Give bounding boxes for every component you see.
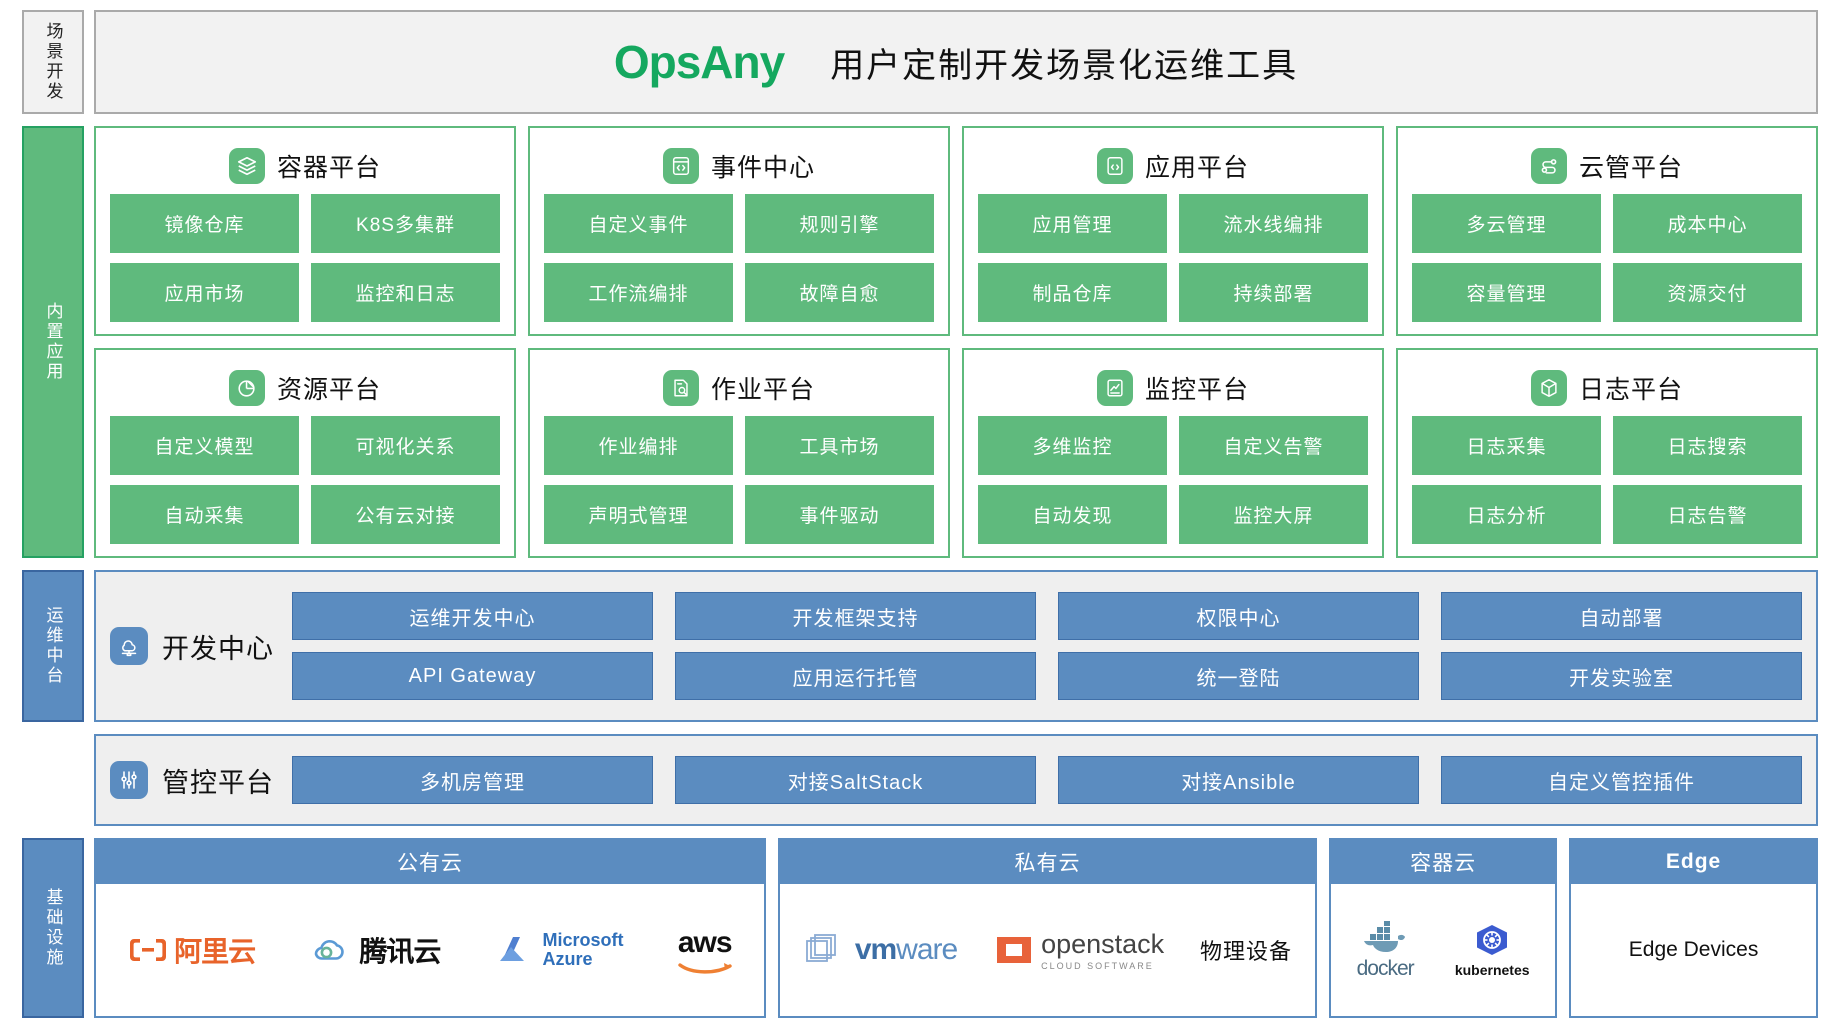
dev-center-chips: 运维开发中心 开发框架支持 权限中心 自动部署 API Gateway 应用运行…: [292, 592, 1802, 700]
infrastructure-band: 基础设施 公有云 阿里云: [22, 838, 1818, 1018]
chip[interactable]: 开发实验室: [1441, 652, 1802, 700]
card-title: 监控平台: [1145, 370, 1249, 406]
openstack-mark-icon: [993, 932, 1035, 968]
docker-logo: docker: [1357, 920, 1414, 981]
chip[interactable]: 应用管理: [978, 194, 1167, 253]
infra-column-body: Edge Devices: [1571, 884, 1816, 1016]
aws-logo: aws: [678, 926, 732, 975]
vmware-label: vmware: [855, 933, 957, 967]
card-title: 作业平台: [711, 370, 815, 406]
card-chips: 多维监控 自定义告警 自动发现 监控大屏: [978, 416, 1368, 544]
dev-center-box: 开发中心 运维开发中心 开发框架支持 权限中心 自动部署 API Gateway…: [94, 570, 1818, 722]
app-code-icon: [1097, 148, 1133, 184]
sidebar-label-scene-dev: 场景开发: [22, 10, 84, 114]
card-chips: 自定义模型 可视化关系 自动采集 公有云对接: [110, 416, 500, 544]
card-monitoring-platform[interactable]: 监控平台 多维监控 自定义告警 自动发现 监控大屏: [962, 348, 1384, 558]
chip[interactable]: 容量管理: [1412, 263, 1601, 322]
sidebar-label-builtin-apps: 内置应用: [22, 126, 84, 558]
aws-smile-icon: [678, 961, 732, 975]
chip[interactable]: 持续部署: [1179, 263, 1368, 322]
infrastructure-grid: 公有云 阿里云: [94, 838, 1818, 1018]
card-title: 事件中心: [711, 148, 815, 184]
nodes-link-icon: [1531, 148, 1567, 184]
cloud-network-icon: [110, 627, 148, 665]
sidebar-label-ops-middle: 运维中台: [22, 570, 84, 722]
openstack-sublabel: CLOUD SOFTWARE: [1041, 961, 1154, 971]
control-platform-title: 管控平台: [162, 761, 274, 800]
architecture-diagram: 场景开发 OpsAny 用户定制开发场景化运维工具 内置应用 容器平台: [0, 0, 1840, 1030]
openstack-label: openstack: [1041, 929, 1164, 960]
card-title: 应用平台: [1145, 148, 1249, 184]
chip[interactable]: 自定义事件: [544, 194, 733, 253]
chip[interactable]: 事件驱动: [745, 485, 934, 544]
header-headline: 用户定制开发场景化运维工具: [830, 38, 1298, 87]
infra-column-edge: Edge Edge Devices: [1569, 838, 1818, 1018]
chip[interactable]: 声明式管理: [544, 485, 733, 544]
chip[interactable]: 自动采集: [110, 485, 299, 544]
sidebar-label-infrastructure-bottom: 基础设施: [22, 838, 84, 1018]
infra-column-title: 公有云: [96, 840, 764, 884]
physical-devices-label: 物理设备: [1200, 934, 1292, 966]
infra-column-body: docker kubernetes: [1331, 884, 1555, 1016]
infra-column-private-cloud: 私有云 vmware openstack: [778, 838, 1317, 1018]
header-band: 场景开发 OpsAny 用户定制开发场景化运维工具: [22, 10, 1818, 114]
chip[interactable]: 规则引擎: [745, 194, 934, 253]
trend-chart-icon: [1097, 370, 1133, 406]
chip[interactable]: 应用运行托管: [675, 652, 1036, 700]
infra-column-title: 私有云: [780, 840, 1315, 884]
chip[interactable]: 自定义告警: [1179, 416, 1368, 475]
chip[interactable]: 公有云对接: [311, 485, 500, 544]
card-chips: 镜像仓库 K8S多集群 应用市场 监控和日志: [110, 194, 500, 322]
docker-whale-icon: [1358, 920, 1412, 956]
builtin-apps-grid: 容器平台 镜像仓库 K8S多集群 应用市场 监控和日志: [94, 126, 1818, 558]
chip[interactable]: 运维开发中心: [292, 592, 653, 640]
chip[interactable]: 资源交付: [1613, 263, 1802, 322]
chip[interactable]: 应用市场: [110, 263, 299, 322]
aliyun-logo: 阿里云: [128, 930, 255, 970]
chip[interactable]: 监控大屏: [1179, 485, 1368, 544]
control-platform-header: 管控平台: [110, 761, 274, 800]
chip[interactable]: 流水线编排: [1179, 194, 1368, 253]
card-header: 作业平台: [544, 360, 934, 416]
openstack-logo: openstack CLOUD SOFTWARE: [993, 929, 1164, 971]
sidebar-label-infrastructure: 基础设施: [22, 734, 84, 826]
chip[interactable]: 日志分析: [1412, 485, 1601, 544]
chip[interactable]: 监控和日志: [311, 263, 500, 322]
card-header: 日志平台: [1412, 360, 1802, 416]
chip[interactable]: 日志告警: [1613, 485, 1802, 544]
sliders-icon: [110, 761, 148, 799]
tencent-cloud-logo: 腾讯云: [309, 930, 440, 970]
aws-label: aws: [678, 926, 732, 960]
chip[interactable]: 故障自愈: [745, 263, 934, 322]
doc-search-icon: [663, 370, 699, 406]
chip[interactable]: 对接Ansible: [1058, 756, 1419, 804]
card-header: 监控平台: [978, 360, 1368, 416]
chip[interactable]: 日志搜索: [1613, 416, 1802, 475]
chip[interactable]: 制品仓库: [978, 263, 1167, 322]
chip[interactable]: 成本中心: [1613, 194, 1802, 253]
vmware-mark-icon: [803, 929, 849, 971]
builtin-apps-band: 内置应用 容器平台 镜像仓库 K8S多集群 应用市场 监控和日志: [22, 126, 1818, 558]
card-job-platform[interactable]: 作业平台 作业编排 工具市场 声明式管理 事件驱动: [528, 348, 950, 558]
chip[interactable]: 多维监控: [978, 416, 1167, 475]
kubernetes-helm-icon: [1472, 923, 1512, 961]
card-header: 事件中心: [544, 138, 934, 194]
card-event-center[interactable]: 事件中心 自定义事件 规则引擎 工作流编排 故障自愈: [528, 126, 950, 336]
card-header: 容器平台: [110, 138, 500, 194]
tencent-cloud-mark-icon: [309, 934, 353, 966]
chip[interactable]: API Gateway: [292, 652, 653, 700]
infra-column-body: vmware openstack CLOUD SOFTWARE 物理设备: [780, 884, 1315, 1016]
control-platform-band: 基础设施 管控平台 多机房管理 对接SaltStack 对接Ansible 自定…: [22, 734, 1818, 826]
aliyun-mark-icon: [128, 935, 168, 965]
chip[interactable]: 对接SaltStack: [675, 756, 1036, 804]
chip[interactable]: 工具市场: [745, 416, 934, 475]
card-chips: 作业编排 工具市场 声明式管理 事件驱动: [544, 416, 934, 544]
opsany-logo: OpsAny: [614, 35, 784, 89]
chip[interactable]: K8S多集群: [311, 194, 500, 253]
card-header: 资源平台: [110, 360, 500, 416]
azure-mark-icon: [495, 934, 537, 966]
chip[interactable]: 多云管理: [1412, 194, 1601, 253]
card-header: 应用平台: [978, 138, 1368, 194]
card-chips: 日志采集 日志搜索 日志分析 日志告警: [1412, 416, 1802, 544]
header-box: OpsAny 用户定制开发场景化运维工具: [94, 10, 1818, 114]
tencent-cloud-label: 腾讯云: [359, 930, 440, 970]
card-chips: 应用管理 流水线编排 制品仓库 持续部署: [978, 194, 1368, 322]
chip[interactable]: 工作流编排: [544, 263, 733, 322]
dev-center-band: 运维中台 开发中心 运维开发中心 开发框架支持 权限中心 自动部署 API Ga…: [22, 570, 1818, 722]
infra-column-title: 容器云: [1331, 840, 1555, 884]
chip[interactable]: 开发框架支持: [675, 592, 1036, 640]
chip[interactable]: 多机房管理: [292, 756, 653, 804]
chip[interactable]: 自定义管控插件: [1441, 756, 1802, 804]
pie-chart-icon: [229, 370, 265, 406]
azure-label: Microsoft Azure: [543, 931, 624, 969]
card-container-platform[interactable]: 容器平台 镜像仓库 K8S多集群 应用市场 监控和日志: [94, 126, 516, 336]
code-window-icon: [663, 148, 699, 184]
card-application-platform[interactable]: 应用平台 应用管理 流水线编排 制品仓库 持续部署: [962, 126, 1384, 336]
infra-column-body: 阿里云 腾讯云: [96, 884, 764, 1016]
edge-devices-label: Edge Devices: [1629, 938, 1759, 962]
chip[interactable]: 镜像仓库: [110, 194, 299, 253]
card-resource-platform[interactable]: 资源平台 自定义模型 可视化关系 自动采集 公有云对接: [94, 348, 516, 558]
control-platform-box: 管控平台 多机房管理 对接SaltStack 对接Ansible 自定义管控插件: [94, 734, 1818, 826]
docker-label: docker: [1357, 957, 1414, 981]
microsoft-azure-logo: Microsoft Azure: [495, 931, 624, 969]
card-log-platform[interactable]: 日志平台 日志采集 日志搜索 日志分析 日志告警: [1396, 348, 1818, 558]
card-title: 资源平台: [277, 370, 381, 406]
card-chips: 自定义事件 规则引擎 工作流编排 故障自愈: [544, 194, 934, 322]
vmware-logo: vmware: [803, 929, 957, 971]
cube-icon: [1531, 370, 1567, 406]
card-title: 云管平台: [1579, 148, 1683, 184]
dev-center-header: 开发中心: [110, 627, 274, 666]
chip[interactable]: 自动发现: [978, 485, 1167, 544]
chip[interactable]: 自定义模型: [110, 416, 299, 475]
layers-icon: [229, 148, 265, 184]
chip[interactable]: 自动部署: [1441, 592, 1802, 640]
card-title: 容器平台: [277, 148, 381, 184]
chip[interactable]: 统一登陆: [1058, 652, 1419, 700]
infra-column-public-cloud: 公有云 阿里云: [94, 838, 766, 1018]
infra-column-title: Edge: [1571, 840, 1816, 884]
card-cloud-management-platform[interactable]: 云管平台 多云管理 成本中心 容量管理 资源交付: [1396, 126, 1818, 336]
control-platform-chips: 多机房管理 对接SaltStack 对接Ansible 自定义管控插件: [292, 756, 1802, 804]
dev-center-title: 开发中心: [162, 627, 274, 666]
aliyun-label: 阿里云: [174, 930, 255, 970]
kubernetes-label: kubernetes: [1455, 962, 1530, 978]
kubernetes-logo: kubernetes: [1455, 923, 1530, 978]
card-header: 云管平台: [1412, 138, 1802, 194]
chip[interactable]: 作业编排: [544, 416, 733, 475]
chip[interactable]: 权限中心: [1058, 592, 1419, 640]
infra-column-container-cloud: 容器云 docker: [1329, 838, 1557, 1018]
card-title: 日志平台: [1579, 370, 1683, 406]
chip[interactable]: 日志采集: [1412, 416, 1601, 475]
chip[interactable]: 可视化关系: [311, 416, 500, 475]
card-chips: 多云管理 成本中心 容量管理 资源交付: [1412, 194, 1802, 322]
